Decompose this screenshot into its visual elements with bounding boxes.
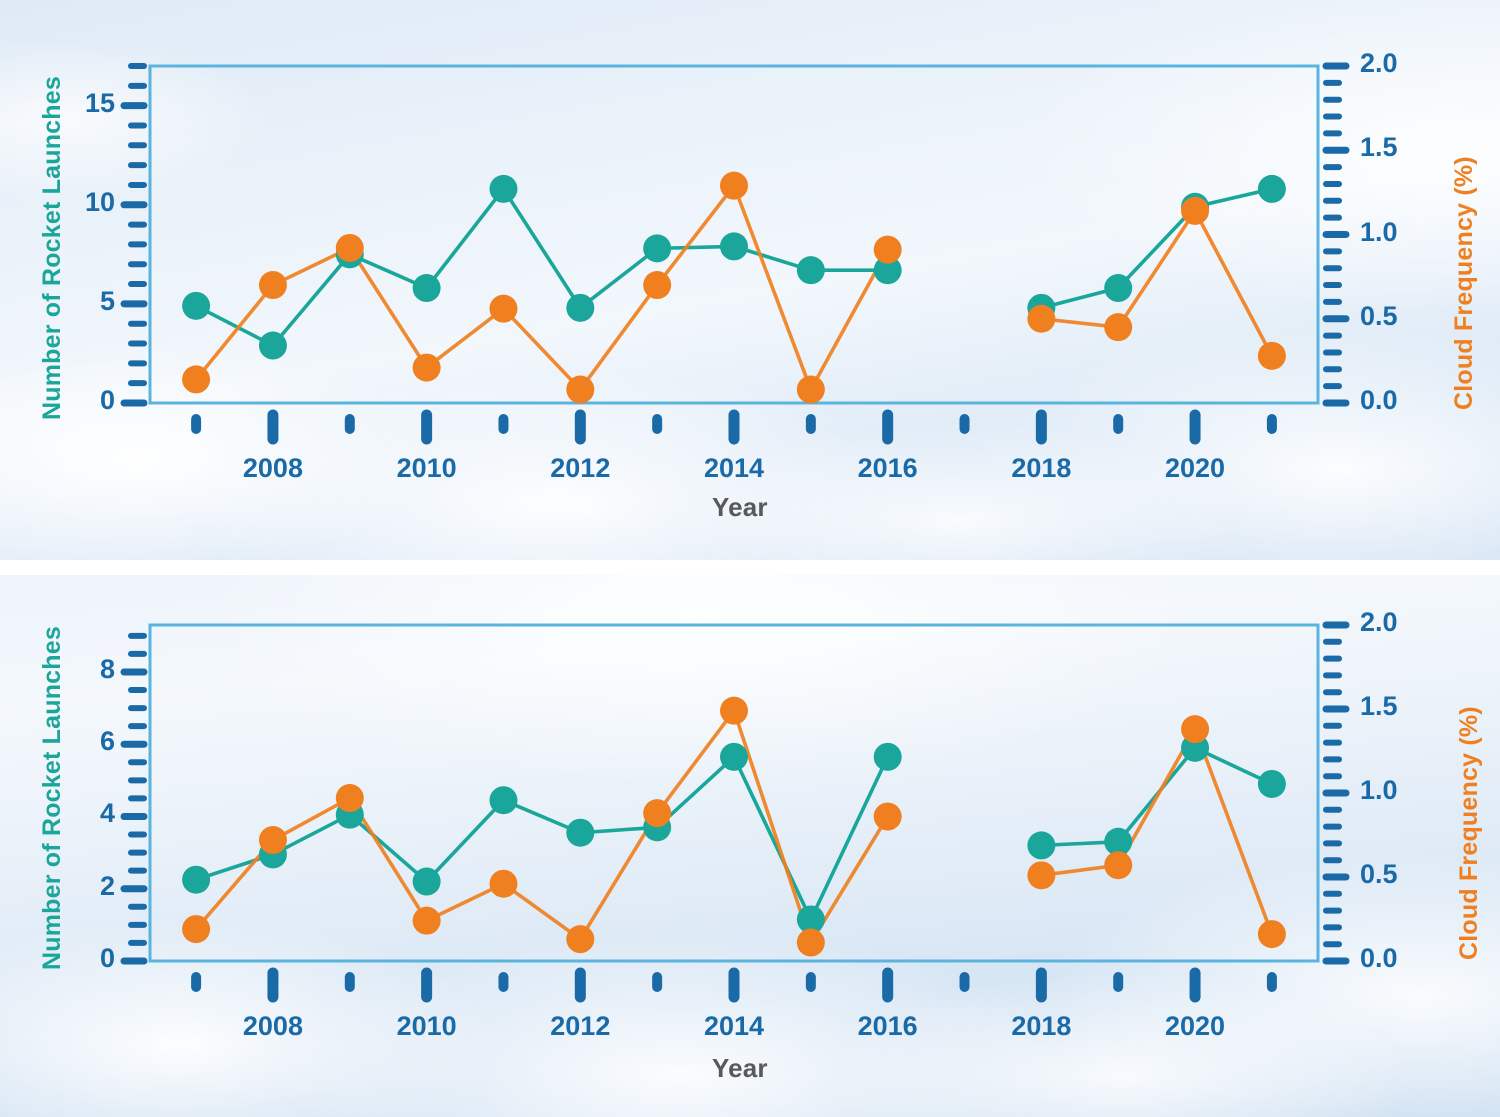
chart-panel-bottom: Number of Rocket Launches Cloud Frequenc… (0, 575, 1500, 1117)
y-tick-label: 2 (45, 871, 115, 902)
y2-tick-label: 2.0 (1360, 607, 1398, 638)
y2-tick-label: 2.0 (1360, 48, 1398, 79)
y2-tick-label: 1.5 (1360, 691, 1398, 722)
x-tick-label: 2014 (674, 1011, 794, 1042)
y2-tick-label: 1.0 (1360, 775, 1398, 806)
y-tick-label: 0 (45, 385, 115, 416)
y-tick-label: 6 (45, 726, 115, 757)
y-tick-label: 4 (45, 798, 115, 829)
x-tick-label: 2008 (213, 1011, 333, 1042)
chart-panel-top: Number of Rocket Launches Cloud Frequenc… (0, 0, 1500, 560)
x-tick-label: 2012 (520, 1011, 640, 1042)
x-tick-label: 2018 (981, 1011, 1101, 1042)
x-tick-label: 2020 (1135, 453, 1255, 484)
y-tick-label: 15 (45, 88, 115, 119)
x-tick-label: 2014 (674, 453, 794, 484)
y2-tick-label: 0.5 (1360, 859, 1398, 890)
y2-tick-label: 0.0 (1360, 385, 1398, 416)
x-tick-label: 2016 (828, 453, 948, 484)
y-tick-label: 8 (45, 654, 115, 685)
x-tick-label: 2008 (213, 453, 333, 484)
y2-tick-label: 1.5 (1360, 132, 1398, 163)
y-tick-label: 0 (45, 943, 115, 974)
x-tick-label: 2010 (367, 453, 487, 484)
y-tick-label: 10 (45, 187, 115, 218)
x-tick-label: 2012 (520, 453, 640, 484)
x-tick-label: 2020 (1135, 1011, 1255, 1042)
y2-tick-label: 0.5 (1360, 301, 1398, 332)
y2-tick-label: 0.0 (1360, 943, 1398, 974)
x-tick-label: 2010 (367, 1011, 487, 1042)
y2-tick-label: 1.0 (1360, 217, 1398, 248)
x-tick-label: 2016 (828, 1011, 948, 1042)
y-tick-label: 5 (45, 286, 115, 317)
x-tick-label: 2018 (981, 453, 1101, 484)
